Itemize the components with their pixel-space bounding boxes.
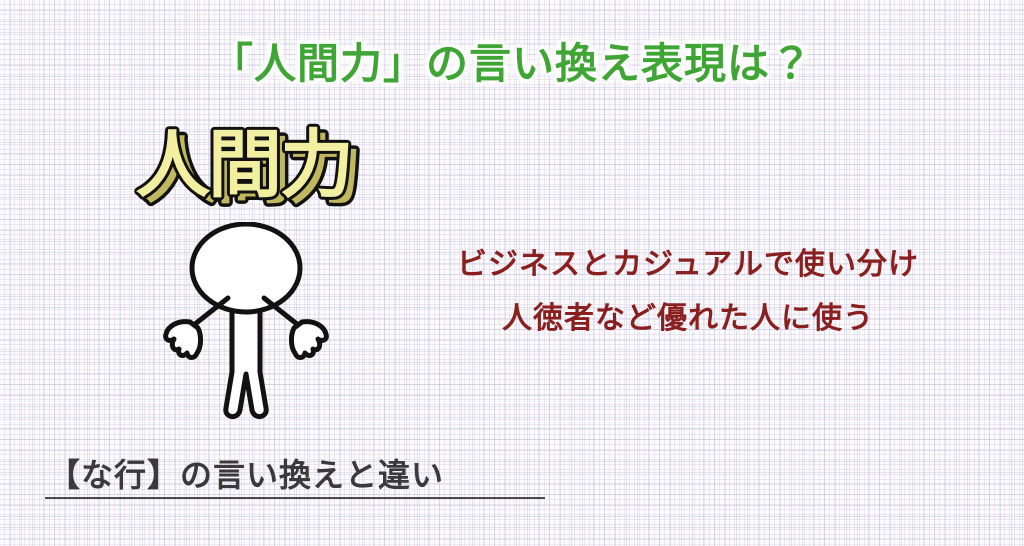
key-point-2: 人徳者など優れた人に使う xyxy=(424,292,952,346)
key-point-1: ビジネスとカジュアルで使い分け xyxy=(424,238,952,292)
footer-caption: 【な行】の言い換えと違い xyxy=(48,450,444,496)
wordmark-front-layer: 人間力 xyxy=(136,122,352,208)
mascot-right-hand xyxy=(291,322,326,358)
page-title: 「人間力」の言い換え表現は？ xyxy=(0,30,1024,91)
footer-rule xyxy=(45,497,545,499)
mascot-left-hand xyxy=(166,322,201,358)
key-points-list: ビジネスとカジュアルで使い分け 人徳者など優れた人に使う xyxy=(424,238,952,346)
mascot-head xyxy=(192,224,300,312)
slide-canvas: 「人間力」の言い換え表現は？ 人間力 人間力 ビジネスとカジュアルで使い分け 人… xyxy=(0,0,1024,546)
wordmark-ningenryoku: 人間力 人間力 xyxy=(130,122,370,214)
mascot-character-illustration xyxy=(160,222,336,427)
